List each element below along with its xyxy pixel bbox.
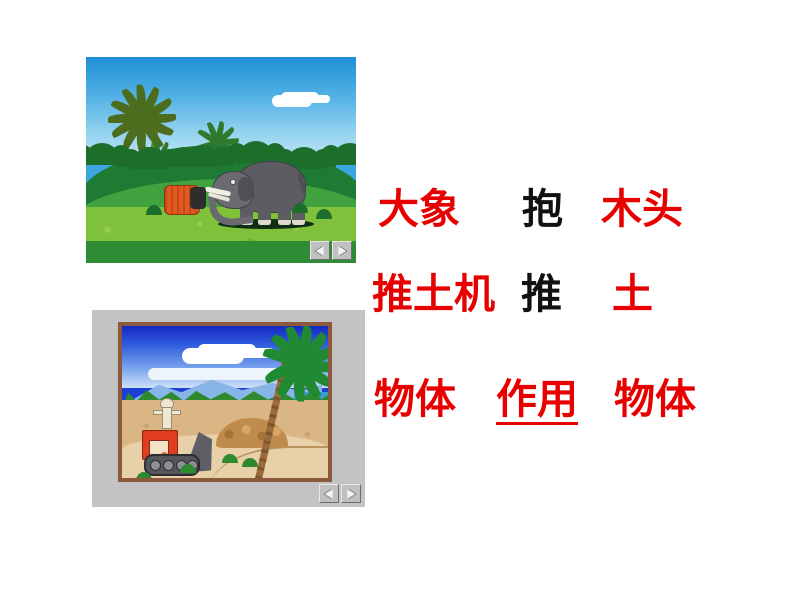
word-cell: 土	[612, 273, 653, 316]
next-button[interactable]	[332, 241, 352, 260]
elephant-figure	[204, 157, 314, 229]
picture-frame	[118, 322, 332, 482]
word-cell: 大象	[378, 188, 460, 231]
text-row-3: 物体 作用 物体	[372, 378, 696, 425]
prev-button[interactable]	[319, 484, 339, 503]
bush	[86, 143, 122, 165]
image-bulldozer-pushing-dirt[interactable]	[92, 310, 365, 507]
prev-button[interactable]	[310, 241, 330, 260]
bush	[330, 143, 356, 165]
text-row-1: 大象 抱 木头	[372, 188, 683, 231]
image-nav-buttons[interactable]	[319, 484, 361, 503]
image-elephant-pushing-log[interactable]	[86, 57, 356, 263]
cloud-icon	[182, 348, 244, 364]
log-end	[190, 187, 206, 209]
chevron-right-icon	[347, 489, 355, 499]
cloud-icon	[272, 95, 312, 107]
word-cell: 物体	[374, 378, 456, 421]
bush	[130, 147, 170, 169]
chevron-right-icon	[338, 246, 346, 256]
word-cell: 推	[521, 273, 562, 316]
word-cell: 木头	[601, 188, 683, 231]
chevron-left-icon	[316, 246, 324, 256]
text-row-2: 推土机 推 土	[372, 273, 653, 316]
chevron-left-icon	[325, 489, 333, 499]
palm-tree-crown	[264, 332, 332, 390]
word-cell: 推土机	[372, 273, 495, 316]
word-cell: 物体	[614, 378, 696, 421]
word-cell: 抱	[522, 188, 563, 231]
image-nav-buttons[interactable]	[310, 241, 352, 260]
word-cell-underlined: 作用	[496, 378, 578, 425]
worker-figure	[158, 398, 174, 430]
next-button[interactable]	[341, 484, 361, 503]
